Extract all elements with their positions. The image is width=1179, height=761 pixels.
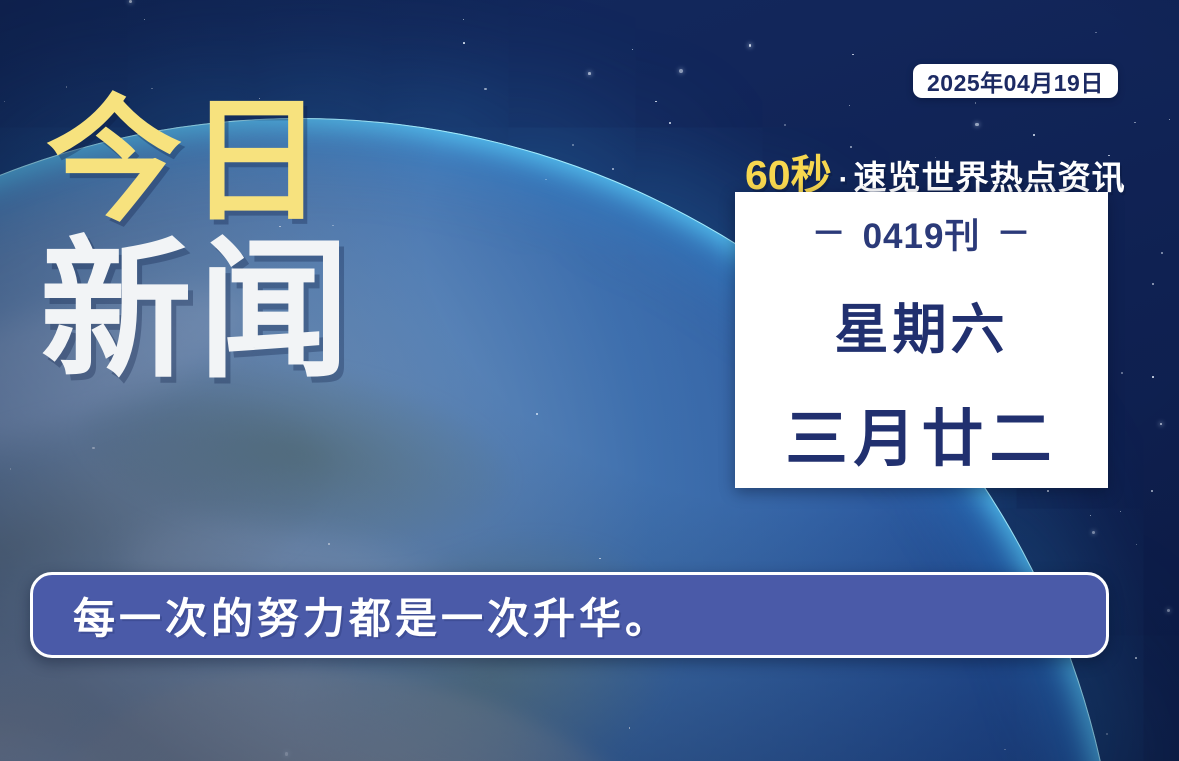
lunar-date-label: 三月廿二 (785, 388, 1057, 478)
masthead-line-today: 今日 (46, 96, 476, 227)
quote-bar: 每一次的努力都是一次升华。 (30, 572, 1109, 658)
masthead-line-news: 新闻 (40, 239, 476, 385)
issue-number: 0419刊 (863, 208, 981, 259)
info-card: － 0419刊 － 星期六 三月廿二 (735, 192, 1108, 488)
masthead: 今日 新闻 (46, 96, 476, 384)
issue-row: － 0419刊 － (812, 208, 1032, 259)
quote-text: 每一次的努力都是一次升华。 (73, 585, 671, 646)
issue-dash-right-icon: － (996, 217, 1031, 251)
issue-dash-left-icon: － (812, 217, 847, 251)
weekday-label: 星期六 (835, 285, 1009, 364)
news-poster: 今日 新闻 2025年04月19日 60秒 · 速览世界热点资讯 － 0419刊… (0, 0, 1179, 761)
date-badge: 2025年04月19日 (913, 64, 1118, 98)
